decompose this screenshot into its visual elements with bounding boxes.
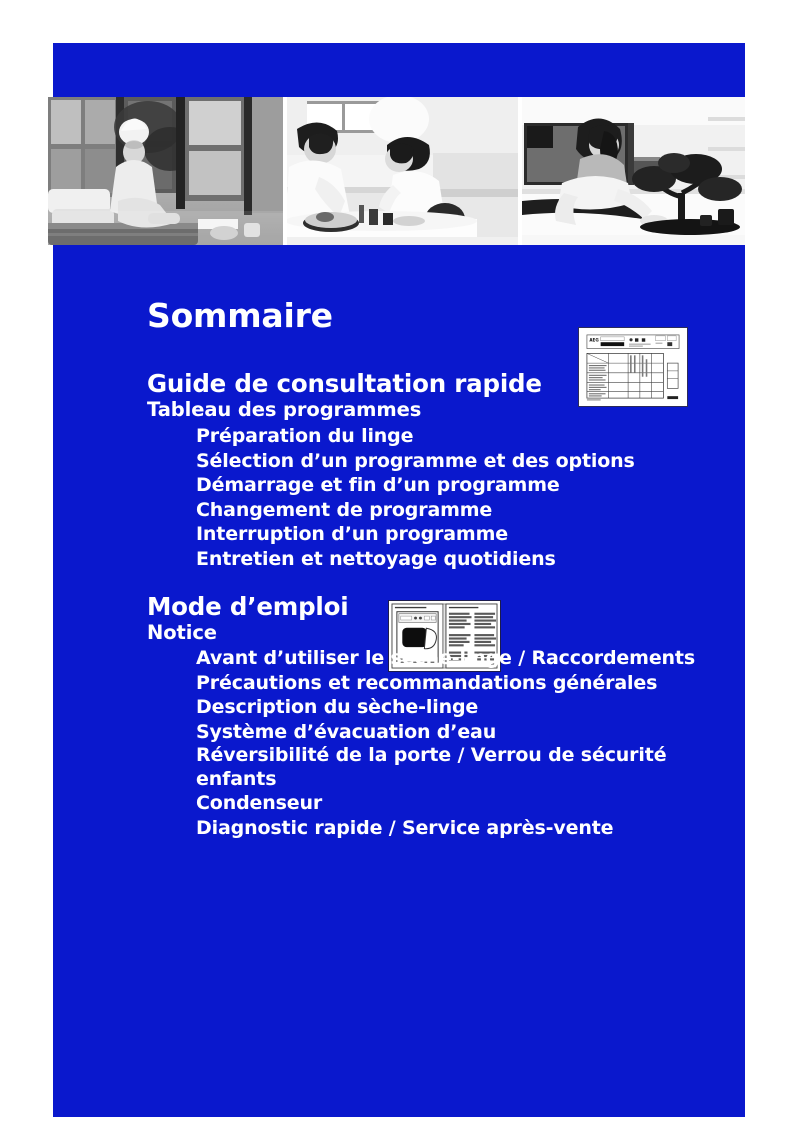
toc-list-guide: Préparation du linge Sélection d’un prog…: [147, 424, 707, 571]
photo-man-and-boy-table: [287, 97, 518, 245]
toc-list-notice: Avant d’utiliser le sèche-linge / Raccor…: [147, 647, 707, 840]
section-heading: Guide de consultation rapide: [147, 370, 707, 398]
toc-item[interactable]: Avant d’utiliser le sèche-linge / Raccor…: [196, 647, 707, 671]
toc-item[interactable]: Diagnostic rapide / Service après-vente: [196, 816, 707, 841]
document-page: AEG: [0, 0, 802, 1134]
toc-item[interactable]: Interruption d’un programme: [196, 522, 707, 547]
section-guide-de-consultation-rapide: Guide de consultation rapide Tableau des…: [147, 370, 707, 571]
toc-item[interactable]: Description du sèche-linge: [196, 695, 707, 720]
table-of-contents: Sommaire Guide de consultation rapide Ta…: [147, 296, 707, 840]
photo-woman-towel-cushions: [48, 97, 283, 245]
toc-item[interactable]: Entretien et nettoyage quotidiens: [196, 547, 707, 572]
toc-item[interactable]: Sélection d’un programme et des options: [196, 449, 707, 474]
section-heading: Mode d’emploi: [147, 593, 707, 621]
toc-item[interactable]: Système d’évacuation d’eau: [196, 720, 707, 745]
section-mode-demploi: Mode d’emploi Notice Avant d’utiliser le…: [147, 593, 707, 840]
toc-item[interactable]: Préparation du linge: [196, 424, 707, 449]
page-title: Sommaire: [147, 296, 707, 336]
photo-strip: [48, 97, 745, 245]
toc-item[interactable]: Précautions et recommandations générales: [196, 671, 707, 696]
toc-item[interactable]: Démarrage et fin d’un programme: [196, 473, 707, 498]
photo-woman-bonsai: [522, 97, 745, 245]
section-subheading: Tableau des programmes: [147, 398, 707, 421]
toc-item[interactable]: Condenseur: [196, 791, 707, 816]
section-subheading: Notice: [147, 621, 707, 644]
toc-item[interactable]: Changement de programme: [196, 498, 707, 523]
toc-item[interactable]: Réversibilité de la porte / Verrou de sé…: [196, 744, 707, 791]
